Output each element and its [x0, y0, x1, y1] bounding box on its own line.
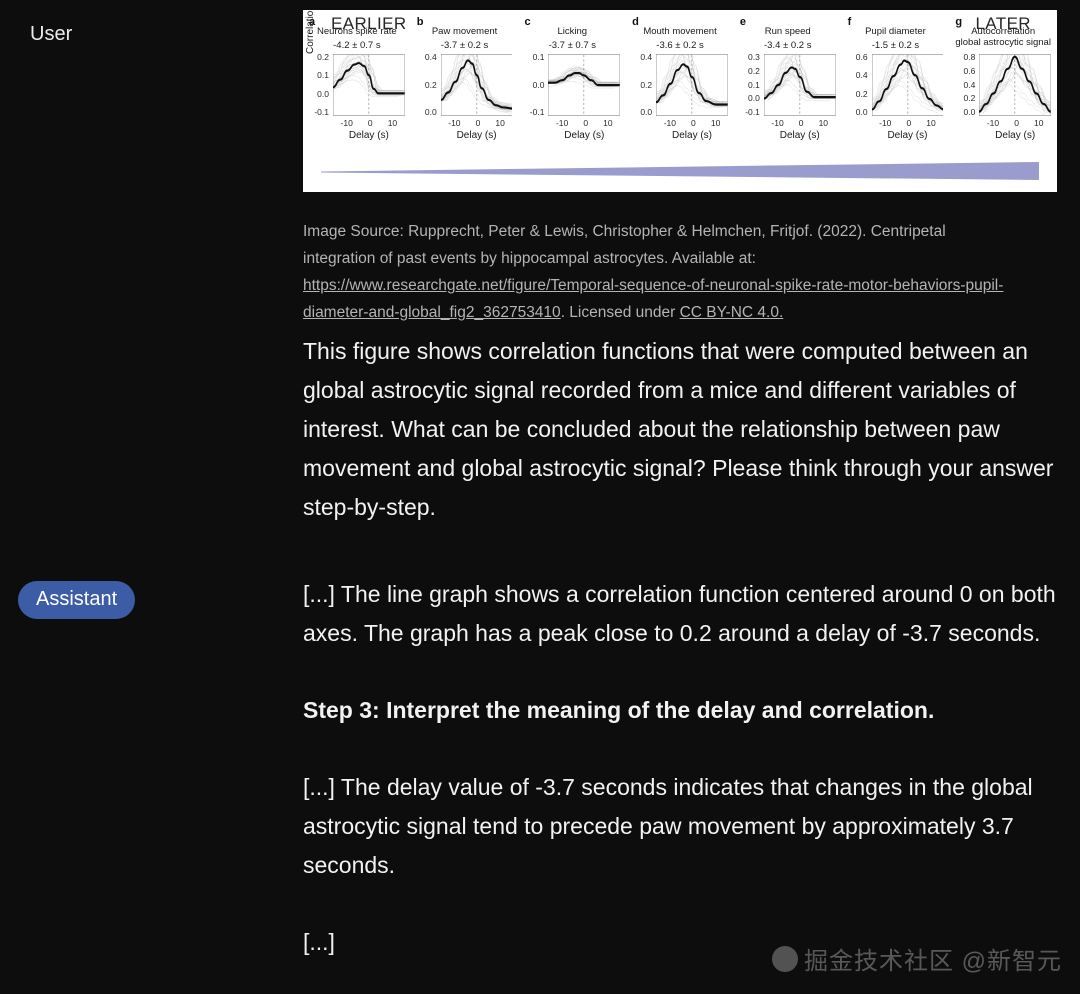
- panel-xlabel-c: Delay (s): [542, 130, 626, 141]
- xtick: 10: [926, 118, 935, 128]
- assistant-role-column: Assistant: [0, 575, 303, 619]
- panel-title-f: Pupil diameter: [842, 26, 950, 37]
- user-role-label: User: [18, 2, 72, 46]
- ytick: 0.2: [640, 81, 652, 90]
- panel-plot-a: [333, 54, 405, 116]
- xtick: -10: [879, 118, 891, 128]
- assistant-paragraph-1: [...] The line graph shows a correlation…: [303, 575, 1058, 653]
- xtick: -10: [771, 118, 783, 128]
- license-link[interactable]: CC BY-NC 4.0.: [680, 304, 784, 321]
- panel-xlabel-d: Delay (s): [650, 130, 734, 141]
- xtick: 0: [906, 118, 911, 128]
- panel-xticks-d: -10010: [656, 118, 728, 128]
- xtick: -10: [448, 118, 460, 128]
- xtick: 0: [1014, 118, 1019, 128]
- figure-panel-g: gAutocorrelation global astrocytic signa…: [949, 16, 1057, 158]
- panel-xticks-g: -10010: [979, 118, 1051, 128]
- panel-plot-c: [548, 54, 620, 116]
- user-content-column: Correlation aNeurons spike rate-4.2 ± 0.…: [303, 0, 1080, 527]
- ytick: 0.0: [856, 108, 868, 117]
- ytick: 0.4: [856, 71, 868, 80]
- image-source-caption: Image Source: Rupprecht, Peter & Lewis, …: [303, 218, 1015, 326]
- panel-title-d: Mouth movement: [626, 26, 734, 37]
- panel-xticks-f: -10010: [872, 118, 944, 128]
- panel-lag-f: -1.5 ± 0.2 s: [842, 40, 950, 51]
- figure-panel-a: aNeurons spike rate-4.2 ± 0.7 s0.20.10.0…: [303, 16, 411, 158]
- xtick: 10: [495, 118, 504, 128]
- ytick: 0.0: [640, 108, 652, 117]
- panel-plot-b: [441, 54, 513, 116]
- ytick: 0.4: [963, 81, 975, 90]
- xtick: -10: [664, 118, 676, 128]
- ytick: -0.1: [530, 108, 545, 117]
- panel-yticks-a: 0.20.10.0-0.1: [303, 52, 332, 118]
- panel-xticks-b: -10010: [441, 118, 513, 128]
- ytick: 0.4: [640, 53, 652, 62]
- figure-panel-b: bPaw movement-3.7 ± 0.2 s0.40.20.0-10010…: [411, 16, 519, 158]
- xtick: 0: [799, 118, 804, 128]
- timeline-earlier-label: EARLIER: [331, 14, 407, 34]
- ytick: 0.0: [317, 90, 329, 99]
- panel-yticks-f: 0.60.40.20.0: [842, 52, 871, 118]
- xtick: 0: [691, 118, 696, 128]
- conversation-thread: User Correlation aNeurons spike rate-4.2…: [0, 0, 1080, 994]
- panel-plot-d: [656, 54, 728, 116]
- assistant-turn: Assistant [...] The line graph shows a c…: [0, 575, 1080, 962]
- ytick: 0.1: [317, 71, 329, 80]
- panel-yticks-b: 0.40.20.0: [411, 52, 440, 118]
- figure-panel-f: fPupil diameter-1.5 ± 0.2 s0.60.40.20.0-…: [842, 16, 950, 158]
- panel-title-e: Run speed: [734, 26, 842, 37]
- ytick: 0.2: [963, 94, 975, 103]
- panel-xlabel-f: Delay (s): [866, 130, 950, 141]
- figure-inner: Correlation aNeurons spike rate-4.2 ± 0.…: [303, 10, 1057, 192]
- figure-panel-c: cLicking-3.7 ± 0.7 s0.10.0-0.1-10010Dela…: [518, 16, 626, 158]
- caption-prefix-text: Image Source: Rupprecht, Peter & Lewis, …: [303, 223, 946, 267]
- xtick: -10: [341, 118, 353, 128]
- assistant-step3-heading: Step 3: Interpret the meaning of the del…: [303, 691, 1058, 730]
- ytick: 0.0: [425, 108, 437, 117]
- panel-lag-e: -3.4 ± 0.2 s: [734, 40, 842, 51]
- caption-middle-text: . Licensed under: [561, 304, 680, 321]
- assistant-paragraph-3: [...]: [303, 923, 1058, 962]
- xtick: 10: [603, 118, 612, 128]
- xtick: 0: [583, 118, 588, 128]
- ytick: 0.2: [856, 90, 868, 99]
- ytick: 0.1: [748, 81, 760, 90]
- assistant-role-label: Assistant: [18, 581, 135, 619]
- figure-panel-d: dMouth movement-3.6 ± 0.2 s0.40.20.0-100…: [626, 16, 734, 158]
- panel-yticks-e: 0.30.20.10.0-0.1: [734, 52, 763, 118]
- ytick: 0.0: [963, 108, 975, 117]
- xtick: 10: [388, 118, 397, 128]
- panel-plot-g: [979, 54, 1051, 116]
- assistant-paragraph-2: [...] The delay value of -3.7 seconds in…: [303, 768, 1058, 885]
- panel-lag-d: -3.6 ± 0.2 s: [626, 40, 734, 51]
- ytick: 0.2: [748, 67, 760, 76]
- xtick: -10: [556, 118, 568, 128]
- ytick: 0.2: [317, 53, 329, 62]
- xtick: 10: [1034, 118, 1043, 128]
- ytick: 0.6: [963, 67, 975, 76]
- panel-xlabel-e: Delay (s): [758, 130, 842, 141]
- ytick: -0.1: [314, 108, 329, 117]
- user-message-paragraph: This figure shows correlation functions …: [303, 332, 1058, 527]
- ytick: 0.3: [748, 53, 760, 62]
- panel-lag-b: -3.7 ± 0.2 s: [411, 40, 519, 51]
- panel-title-c: Licking: [518, 26, 626, 37]
- assistant-content-column: [...] The line graph shows a correlation…: [303, 575, 1080, 962]
- xtick: 0: [368, 118, 373, 128]
- panel-lag-a: -4.2 ± 0.7 s: [303, 40, 411, 51]
- ytick: 0.6: [856, 53, 868, 62]
- panel-xlabel-g: Delay (s): [973, 130, 1057, 141]
- panel-lag-c: -3.7 ± 0.7 s: [518, 40, 626, 51]
- figure-card[interactable]: Correlation aNeurons spike rate-4.2 ± 0.…: [303, 10, 1057, 192]
- ytick: 0.0: [748, 94, 760, 103]
- ytick: 0.2: [425, 81, 437, 90]
- timeline-arrow: [303, 156, 1057, 186]
- panel-plot-e: [764, 54, 836, 116]
- panel-xlabel-a: Delay (s): [327, 130, 411, 141]
- xtick: 10: [711, 118, 720, 128]
- panel-plot-f: [872, 54, 944, 116]
- user-message-body: This figure shows correlation functions …: [303, 332, 1058, 527]
- ytick: 0.0: [533, 81, 545, 90]
- panel-yticks-d: 0.40.20.0: [626, 52, 655, 118]
- panel-xticks-e: -10010: [764, 118, 836, 128]
- user-role-column: User: [0, 0, 303, 46]
- figure-panel-row: aNeurons spike rate-4.2 ± 0.7 s0.20.10.0…: [303, 16, 1057, 158]
- ytick: 0.4: [425, 53, 437, 62]
- ytick: 0.1: [533, 53, 545, 62]
- panel-xticks-a: -10010: [333, 118, 405, 128]
- panel-xticks-c: -10010: [548, 118, 620, 128]
- timeline-later-label: LATER: [975, 14, 1031, 34]
- xtick: 10: [819, 118, 828, 128]
- assistant-message-body: [...] The line graph shows a correlation…: [303, 575, 1058, 962]
- xtick: 0: [476, 118, 481, 128]
- panel-xlabel-b: Delay (s): [435, 130, 519, 141]
- ytick: -0.1: [745, 108, 760, 117]
- figure-panel-e: eRun speed-3.4 ± 0.2 s0.30.20.10.0-0.1-1…: [734, 16, 842, 158]
- panel-title-b: Paw movement: [411, 26, 519, 37]
- ytick: 0.8: [963, 53, 975, 62]
- panel-yticks-g: 0.80.60.40.20.0: [949, 52, 978, 118]
- panel-yticks-c: 0.10.0-0.1: [518, 52, 547, 118]
- xtick: -10: [987, 118, 999, 128]
- user-turn: User Correlation aNeurons spike rate-4.2…: [0, 0, 1080, 527]
